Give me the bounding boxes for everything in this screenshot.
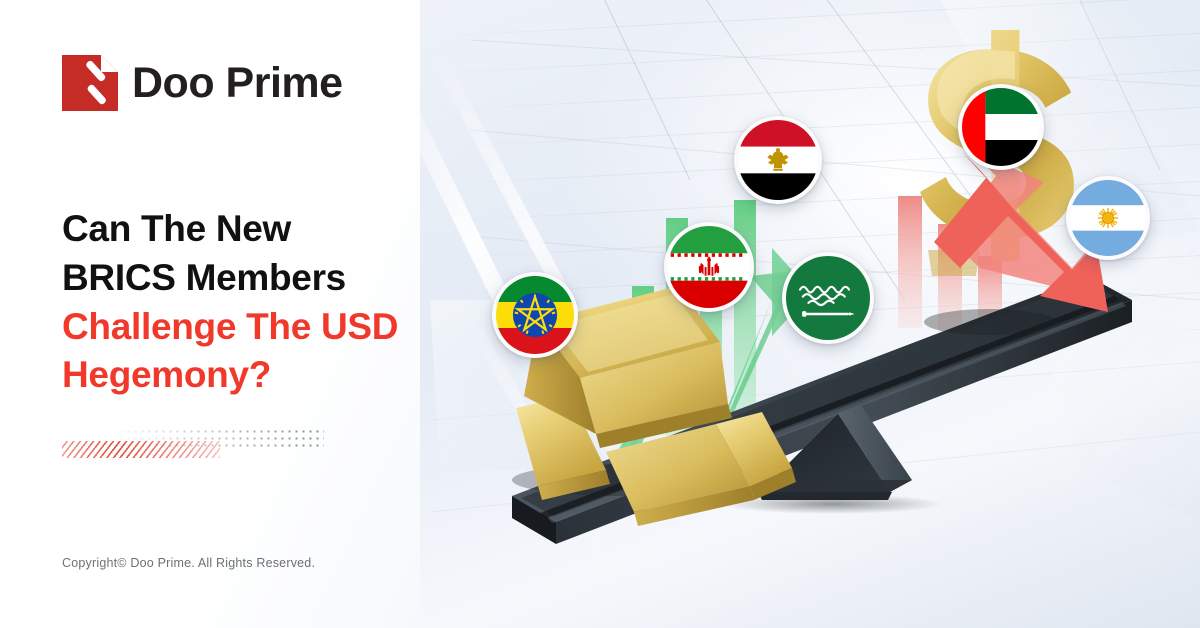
sun-of-may: [1098, 208, 1118, 228]
divider-hatch-band: [62, 441, 220, 458]
flag-badge-ethiopia[interactable]: [492, 272, 578, 358]
flag-disc: [738, 120, 818, 200]
flag-ethiopia-icon: [496, 276, 574, 354]
brand-name: Doo Prime: [132, 62, 343, 105]
flag-uae-icon: [962, 88, 1040, 166]
illustration: [420, 0, 1200, 628]
flag-badge-iran[interactable]: [664, 222, 754, 312]
decorative-divider: [62, 428, 324, 458]
flag-saudi-arabia-icon: [786, 256, 870, 340]
banner-root: Doo Prime Can The New BRICS Members Chal…: [0, 0, 1200, 628]
flag-disc: [668, 226, 750, 308]
copyright-text: Copyright© Doo Prime. All Rights Reserve…: [62, 556, 315, 570]
doo-prime-logo-mark: [62, 55, 118, 111]
flag-badge-saudi-arabia[interactable]: [782, 252, 874, 344]
flag-disc: [962, 88, 1040, 166]
flag-egypt-icon: [738, 120, 818, 200]
flag-iran-icon: [668, 226, 750, 308]
flag-disc: [496, 276, 574, 354]
flag-badge-united-arab-emirates[interactable]: [958, 84, 1044, 170]
flag-disc: [786, 256, 870, 340]
flag-argentina-icon: [1070, 180, 1146, 256]
flag-disc: [1070, 180, 1146, 256]
brand-logo[interactable]: Doo Prime: [62, 55, 343, 111]
flag-badge-egypt[interactable]: [734, 116, 822, 204]
flag-badge-argentina[interactable]: [1066, 176, 1150, 260]
